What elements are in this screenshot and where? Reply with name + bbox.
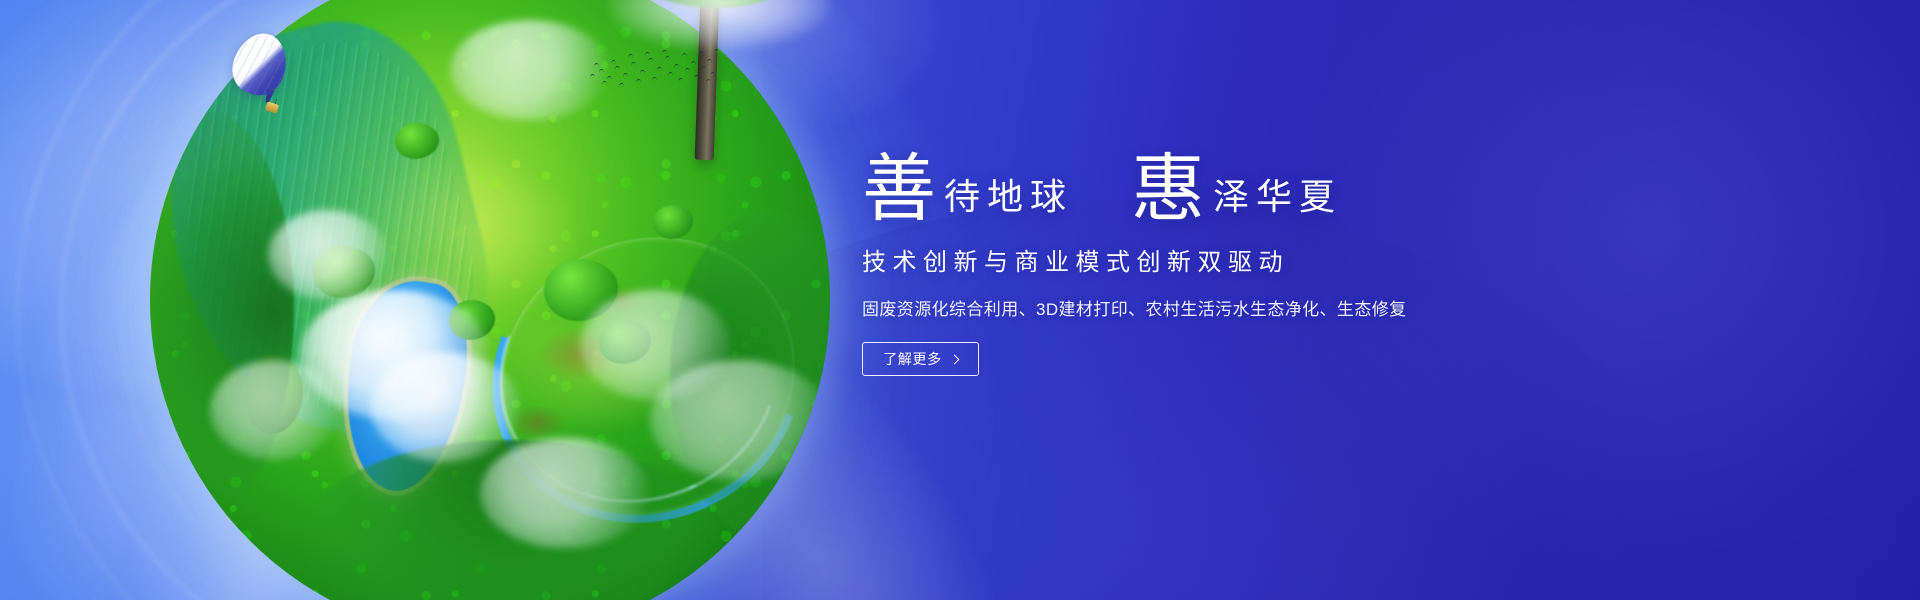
bird-icon xyxy=(665,56,670,61)
globe-cloud xyxy=(650,360,830,480)
page-title: 善 待地球 惠 泽华夏 xyxy=(862,148,1622,222)
bird-icon xyxy=(678,78,683,83)
bird-icon xyxy=(694,75,699,80)
hero-subtitle: 技术创新与商业模式创新双驱动 xyxy=(862,242,1622,277)
globe-cloud xyxy=(370,352,520,462)
bird-icon xyxy=(682,53,687,58)
chevron-right-icon xyxy=(949,354,959,364)
bird-icon xyxy=(706,79,711,84)
bird-flock-icon xyxy=(588,48,718,96)
learn-more-label: 了解更多 xyxy=(883,349,941,369)
globe-cloud xyxy=(480,438,650,548)
bird-icon xyxy=(645,52,650,57)
globe-cloud xyxy=(268,210,388,300)
bird-icon xyxy=(623,73,628,78)
learn-more-button[interactable]: 了解更多 xyxy=(862,342,979,376)
title-text-two: 泽华夏 xyxy=(1213,180,1342,216)
bird-icon xyxy=(662,50,667,55)
bird-icon xyxy=(668,72,673,77)
bird-icon xyxy=(674,64,679,69)
hero-banner: 善 待地球 惠 泽华夏 技术创新与商业模式创新双驱动 固废资源化综合利用、3D建… xyxy=(0,0,1920,600)
bird-icon xyxy=(607,76,612,81)
title-text-one: 待地球 xyxy=(944,180,1073,216)
bird-icon xyxy=(631,62,636,67)
bird-icon xyxy=(701,66,706,71)
bird-icon xyxy=(648,58,653,63)
bird-icon xyxy=(636,79,641,84)
bird-icon xyxy=(611,60,616,65)
bird-icon xyxy=(602,81,607,86)
bird-icon xyxy=(619,83,624,88)
bird-icon xyxy=(628,54,633,59)
title-char-primary-two: 惠 xyxy=(1131,152,1205,226)
title-char-primary-one: 善 xyxy=(862,152,936,226)
bird-icon xyxy=(657,67,662,72)
bird-icon xyxy=(685,68,690,73)
bird-icon xyxy=(590,74,595,79)
bird-icon xyxy=(594,63,599,68)
bird-icon xyxy=(652,77,657,82)
bird-icon xyxy=(599,69,604,74)
bird-icon xyxy=(615,66,620,71)
bird-icon xyxy=(710,72,715,77)
hot-air-balloon-icon xyxy=(232,33,292,121)
bird-icon xyxy=(699,51,704,56)
bird-icon xyxy=(691,61,696,66)
hero-content: 善 待地球 惠 泽华夏 技术创新与商业模式创新双驱动 固废资源化综合利用、3D建… xyxy=(862,148,1622,376)
bird-icon xyxy=(714,49,719,54)
hero-description: 固废资源化综合利用、3D建材打印、农村生活污水生态净化、生态修复 xyxy=(862,295,1622,320)
tree-mist xyxy=(610,0,830,50)
globe-cloud xyxy=(210,360,340,460)
bird-icon xyxy=(640,70,645,75)
bird-icon xyxy=(707,59,712,64)
